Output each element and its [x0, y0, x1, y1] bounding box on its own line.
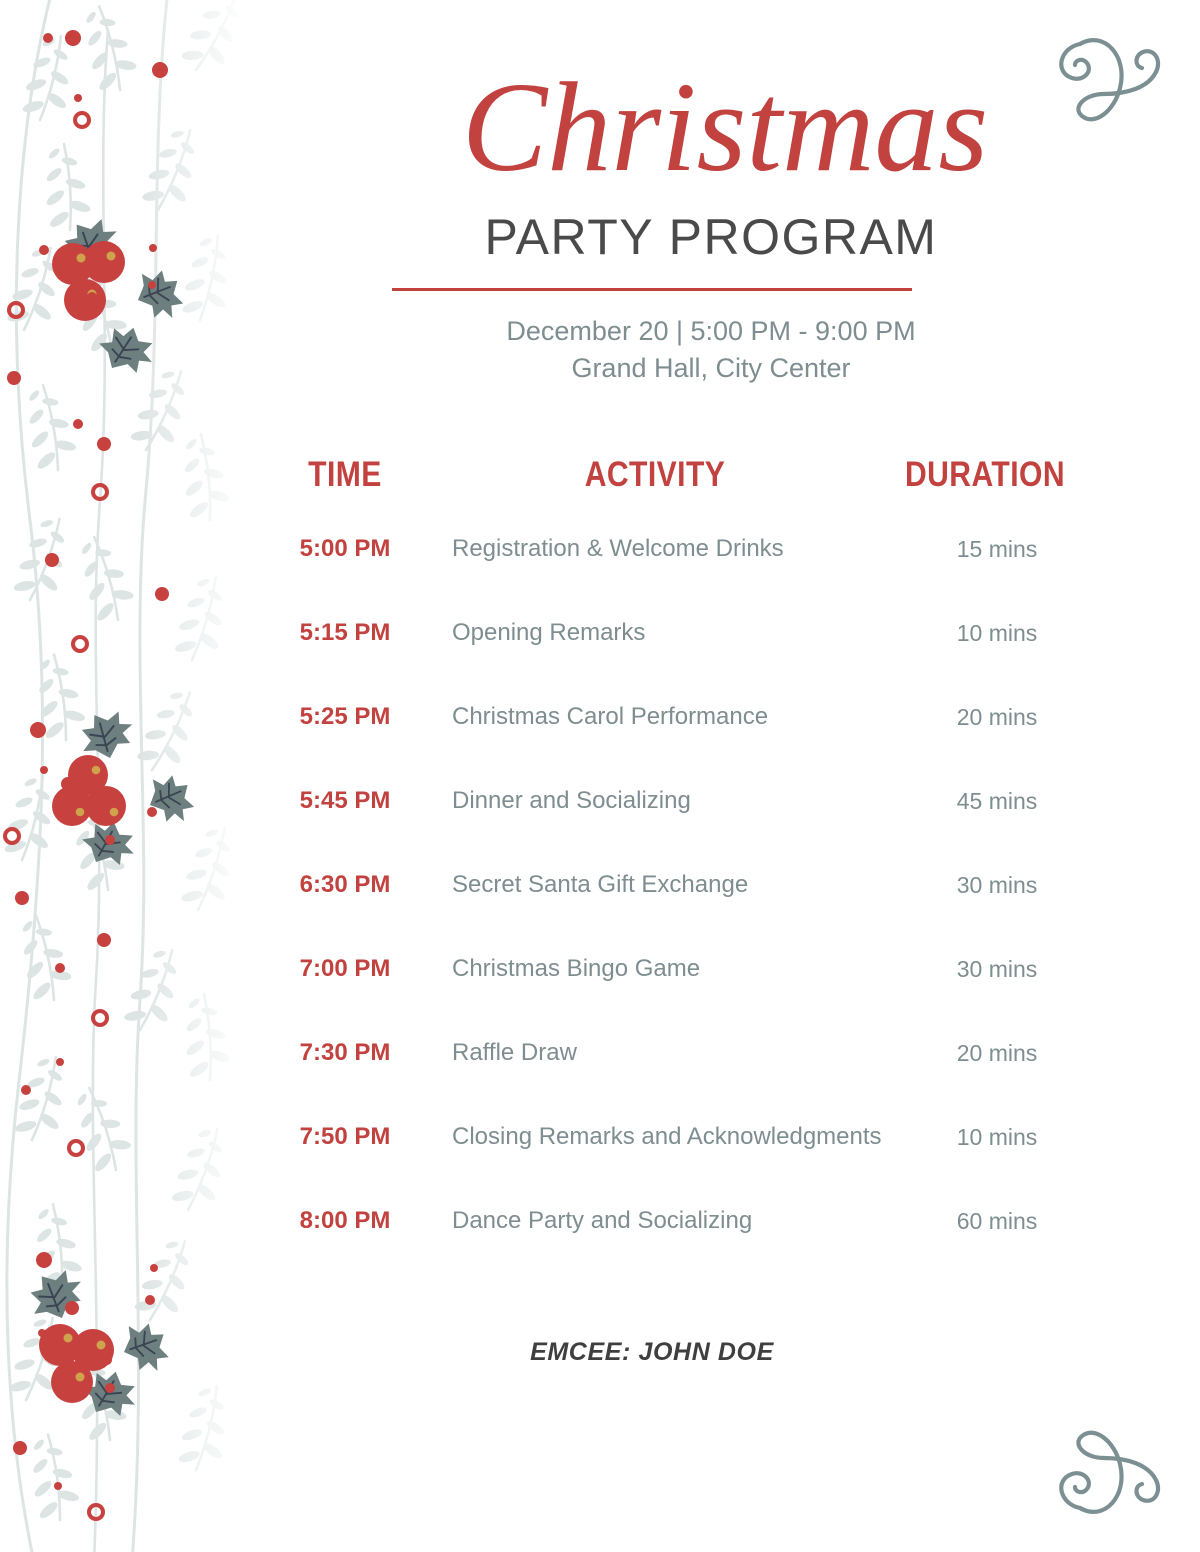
- table-row: 6:30 PMSecret Santa Gift Exchange30 mins: [250, 843, 1110, 927]
- cell-activity: Dance Party and Socializing: [440, 1207, 882, 1235]
- table-row: 7:30 PMRaffle Draw20 mins: [250, 1011, 1110, 1095]
- column-header-duration: DURATION: [886, 455, 1084, 495]
- document-header: Christmas PARTY PROGRAM December 20 | 5:…: [250, 0, 1200, 388]
- schedule-row-list: 5:00 PMRegistration & Welcome Drinks15 m…: [250, 507, 1110, 1263]
- cell-time: 6:30 PM: [250, 871, 440, 899]
- table-row: 7:00 PMChristmas Bingo Game30 mins: [250, 927, 1110, 1011]
- holly-foliage-border-decoration: [0, 0, 250, 1552]
- script-title-christmas: Christmas: [250, 0, 1200, 218]
- schedule-table: TIME ACTIVITY DURATION 5:00 PMRegistrati…: [250, 455, 1110, 1263]
- cell-time: 5:45 PM: [250, 787, 440, 815]
- program-page: Christmas PARTY PROGRAM December 20 | 5:…: [0, 0, 1200, 1552]
- table-row: 8:00 PMDance Party and Socializing60 min…: [250, 1179, 1110, 1263]
- title-divider-rule: [392, 288, 912, 291]
- table-row: 5:45 PMDinner and Socializing45 mins: [250, 759, 1110, 843]
- cell-time: 5:25 PM: [250, 703, 440, 731]
- cell-duration: 20 mins: [882, 1040, 1112, 1067]
- cell-duration: 30 mins: [882, 872, 1112, 899]
- cell-activity: Christmas Bingo Game: [440, 955, 882, 983]
- cell-duration: 10 mins: [882, 620, 1112, 647]
- flourish-swirl-mirrored-icon: [1042, 1408, 1182, 1538]
- cell-duration: 10 mins: [882, 1124, 1112, 1151]
- cell-time: 5:00 PM: [250, 535, 440, 563]
- cell-activity: Closing Remarks and Acknowledgments: [440, 1123, 882, 1151]
- cell-activity: Registration & Welcome Drinks: [440, 535, 882, 563]
- cell-time: 5:15 PM: [250, 619, 440, 647]
- holly-cluster-top: [52, 211, 191, 383]
- cell-time: 8:00 PM: [250, 1207, 440, 1235]
- table-row: 7:50 PMClosing Remarks and Acknowledgmen…: [250, 1095, 1110, 1179]
- emcee-credit: EMCEE: JOHN DOE: [222, 1338, 1082, 1367]
- event-datetime: December 20 | 5:00 PM - 9:00 PM: [222, 313, 1200, 350]
- cell-activity: Raffle Draw: [440, 1039, 882, 1067]
- cell-time: 7:50 PM: [250, 1123, 440, 1151]
- event-details: December 20 | 5:00 PM - 9:00 PM Grand Ha…: [222, 313, 1200, 388]
- event-venue: Grand Hall, City Center: [222, 350, 1200, 387]
- cell-activity: Dinner and Socializing: [440, 787, 882, 815]
- cell-duration: 30 mins: [882, 956, 1112, 983]
- cell-activity: Secret Santa Gift Exchange: [440, 871, 882, 899]
- table-row: 5:00 PMRegistration & Welcome Drinks15 m…: [250, 507, 1110, 591]
- table-row: 5:15 PMOpening Remarks10 mins: [250, 591, 1110, 675]
- column-header-time: TIME: [263, 455, 426, 495]
- cell-time: 7:30 PM: [250, 1039, 440, 1067]
- cell-activity: Opening Remarks: [440, 619, 882, 647]
- scattered-berry-dots: [5, 30, 169, 1519]
- page-title: PARTY PROGRAM: [222, 212, 1200, 262]
- schedule-header-row: TIME ACTIVITY DURATION: [250, 455, 1110, 495]
- cell-duration: 60 mins: [882, 1208, 1112, 1235]
- holly-cluster-bottom: [21, 1262, 176, 1426]
- cell-activity: Christmas Carol Performance: [440, 703, 882, 731]
- cell-time: 7:00 PM: [250, 955, 440, 983]
- column-header-activity: ACTIVITY: [470, 455, 840, 495]
- cell-duration: 15 mins: [882, 536, 1112, 563]
- cell-duration: 20 mins: [882, 704, 1112, 731]
- holly-cluster-middle: [52, 704, 202, 875]
- table-row: 5:25 PMChristmas Carol Performance20 min…: [250, 675, 1110, 759]
- cell-duration: 45 mins: [882, 788, 1112, 815]
- script-title-text: Christmas: [465, 58, 985, 198]
